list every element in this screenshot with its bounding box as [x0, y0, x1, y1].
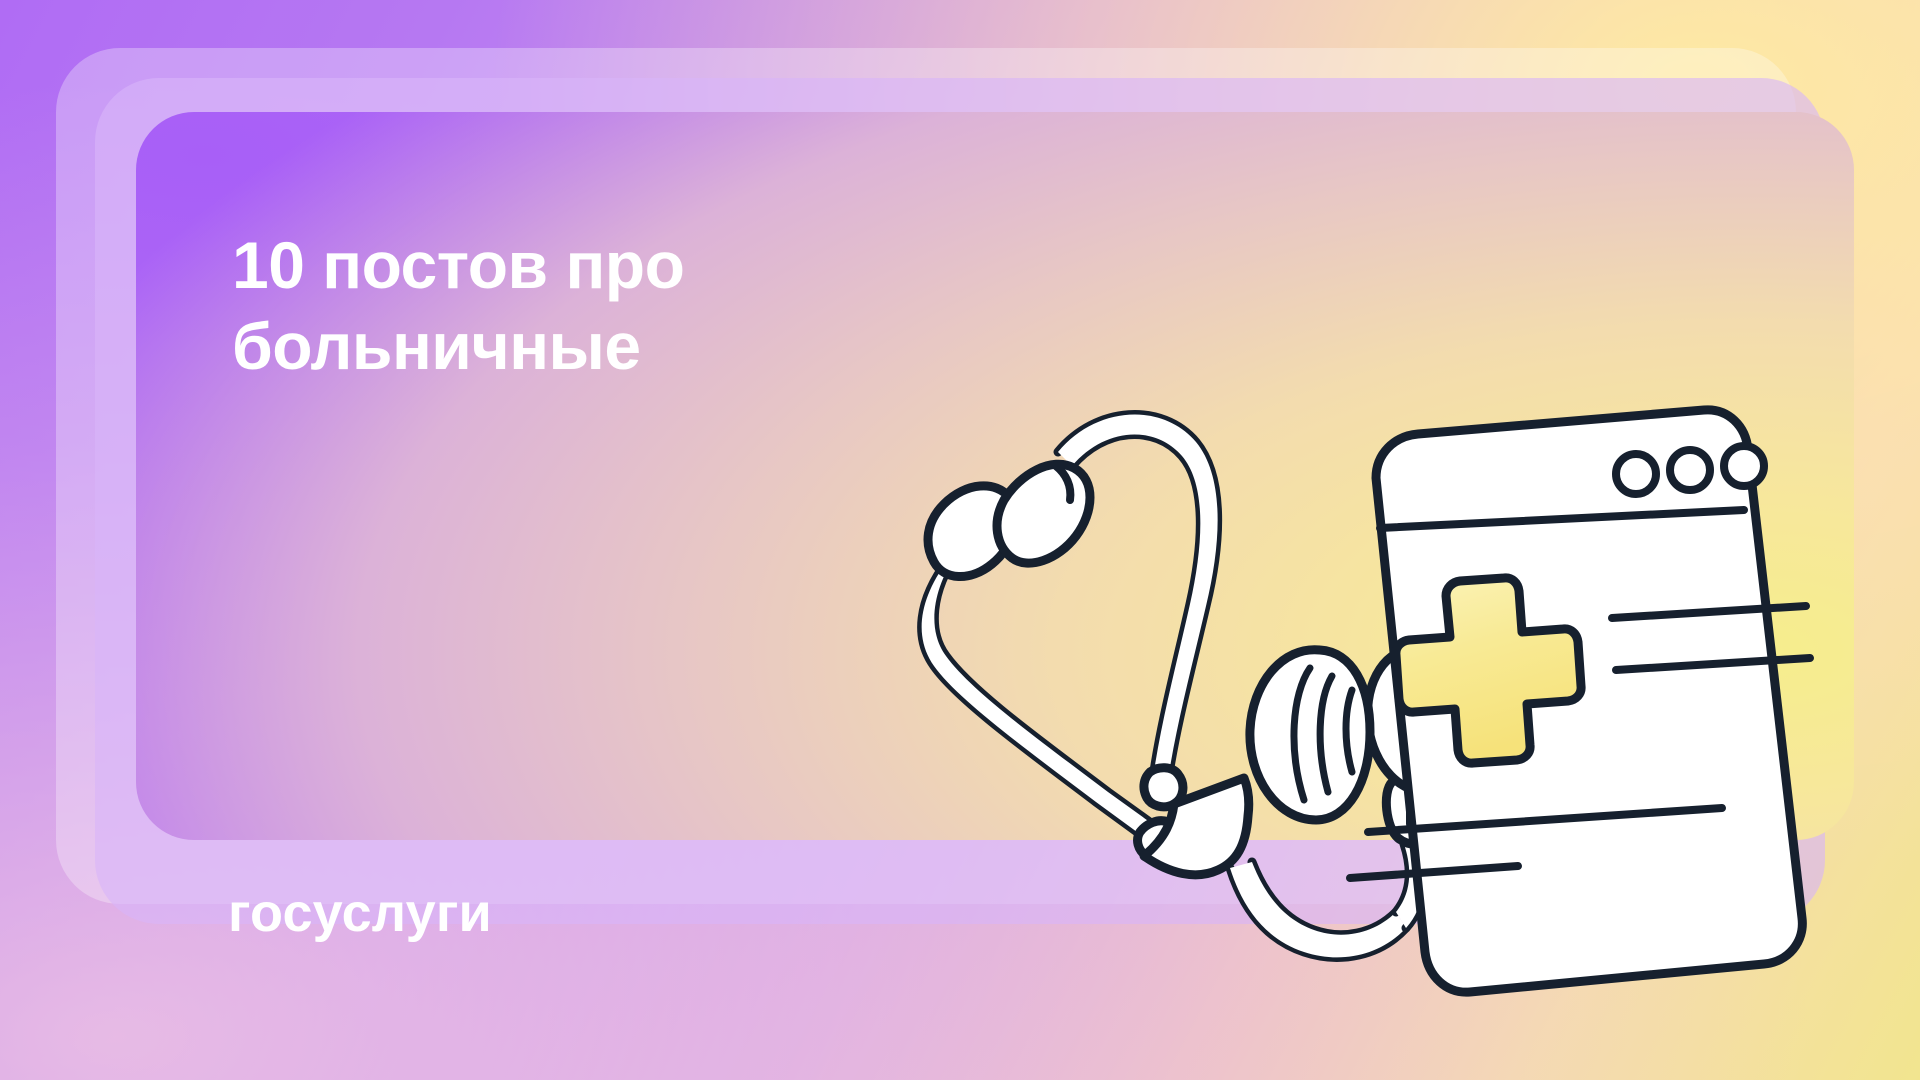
illustration-stethoscope-certificate [900, 400, 1720, 1020]
stethoscope-diaphragm [1250, 650, 1370, 820]
certificate-dot-3 [1724, 446, 1764, 486]
gosuslugi-logo: госуслуги [228, 882, 492, 944]
promo-banner: 10 постов про больничные госуслуги [0, 0, 1920, 1080]
illustration-svg [900, 400, 1720, 1020]
certificate-dot-2 [1670, 450, 1710, 490]
certificate-dot-1 [1616, 454, 1656, 494]
medical-certificate-icon [1350, 410, 1810, 992]
page-title: 10 постов про больничные [232, 225, 1132, 386]
